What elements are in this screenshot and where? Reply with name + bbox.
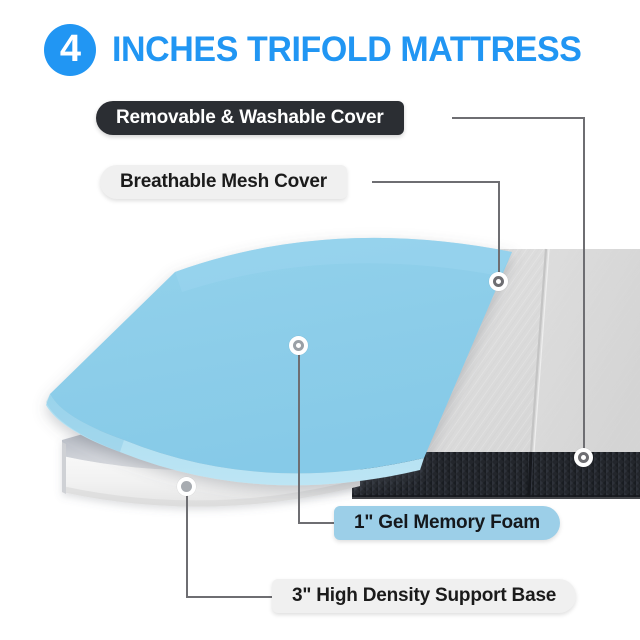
- marker-ring-inner: [293, 340, 304, 351]
- leader-line-mesh-cover-v: [498, 181, 500, 281]
- leader-line-removable-washable-h: [452, 117, 584, 119]
- leader-line-mesh-cover-h: [372, 181, 500, 183]
- leader-line-gel-foam-v: [298, 347, 300, 523]
- callout-label: Breathable Mesh Cover: [120, 171, 327, 193]
- callout-gel-memory-foam[interactable]: 1" Gel Memory Foam: [334, 506, 560, 540]
- marker-removable-washable-cover[interactable]: [574, 448, 593, 467]
- leader-line-removable-washable-v: [583, 117, 585, 457]
- marker-breathable-mesh-cover[interactable]: [489, 272, 508, 291]
- infographic-canvas: 4 INCHES TRIFOLD MATTRESS: [0, 0, 640, 640]
- marker-gel-memory-foam[interactable]: [289, 336, 308, 355]
- mattress-illustration: [0, 0, 640, 640]
- leader-line-support-base-h: [186, 596, 274, 598]
- callout-label: 1" Gel Memory Foam: [354, 512, 540, 534]
- leader-line-support-base-v: [186, 486, 188, 597]
- marker-ring-inner: [578, 452, 589, 463]
- callout-label: 3" High Density Support Base: [292, 585, 556, 607]
- leader-line-gel-foam-h: [298, 522, 336, 524]
- callout-label: Removable & Washable Cover: [116, 107, 384, 129]
- marker-high-density-support-base[interactable]: [177, 477, 196, 496]
- marker-ring-inner: [493, 276, 504, 287]
- callout-removable-washable-cover[interactable]: Removable & Washable Cover: [96, 101, 404, 135]
- callout-breathable-mesh-cover[interactable]: Breathable Mesh Cover: [100, 165, 347, 199]
- callout-high-density-support-base[interactable]: 3" High Density Support Base: [272, 579, 576, 613]
- marker-dot-inner: [181, 481, 192, 492]
